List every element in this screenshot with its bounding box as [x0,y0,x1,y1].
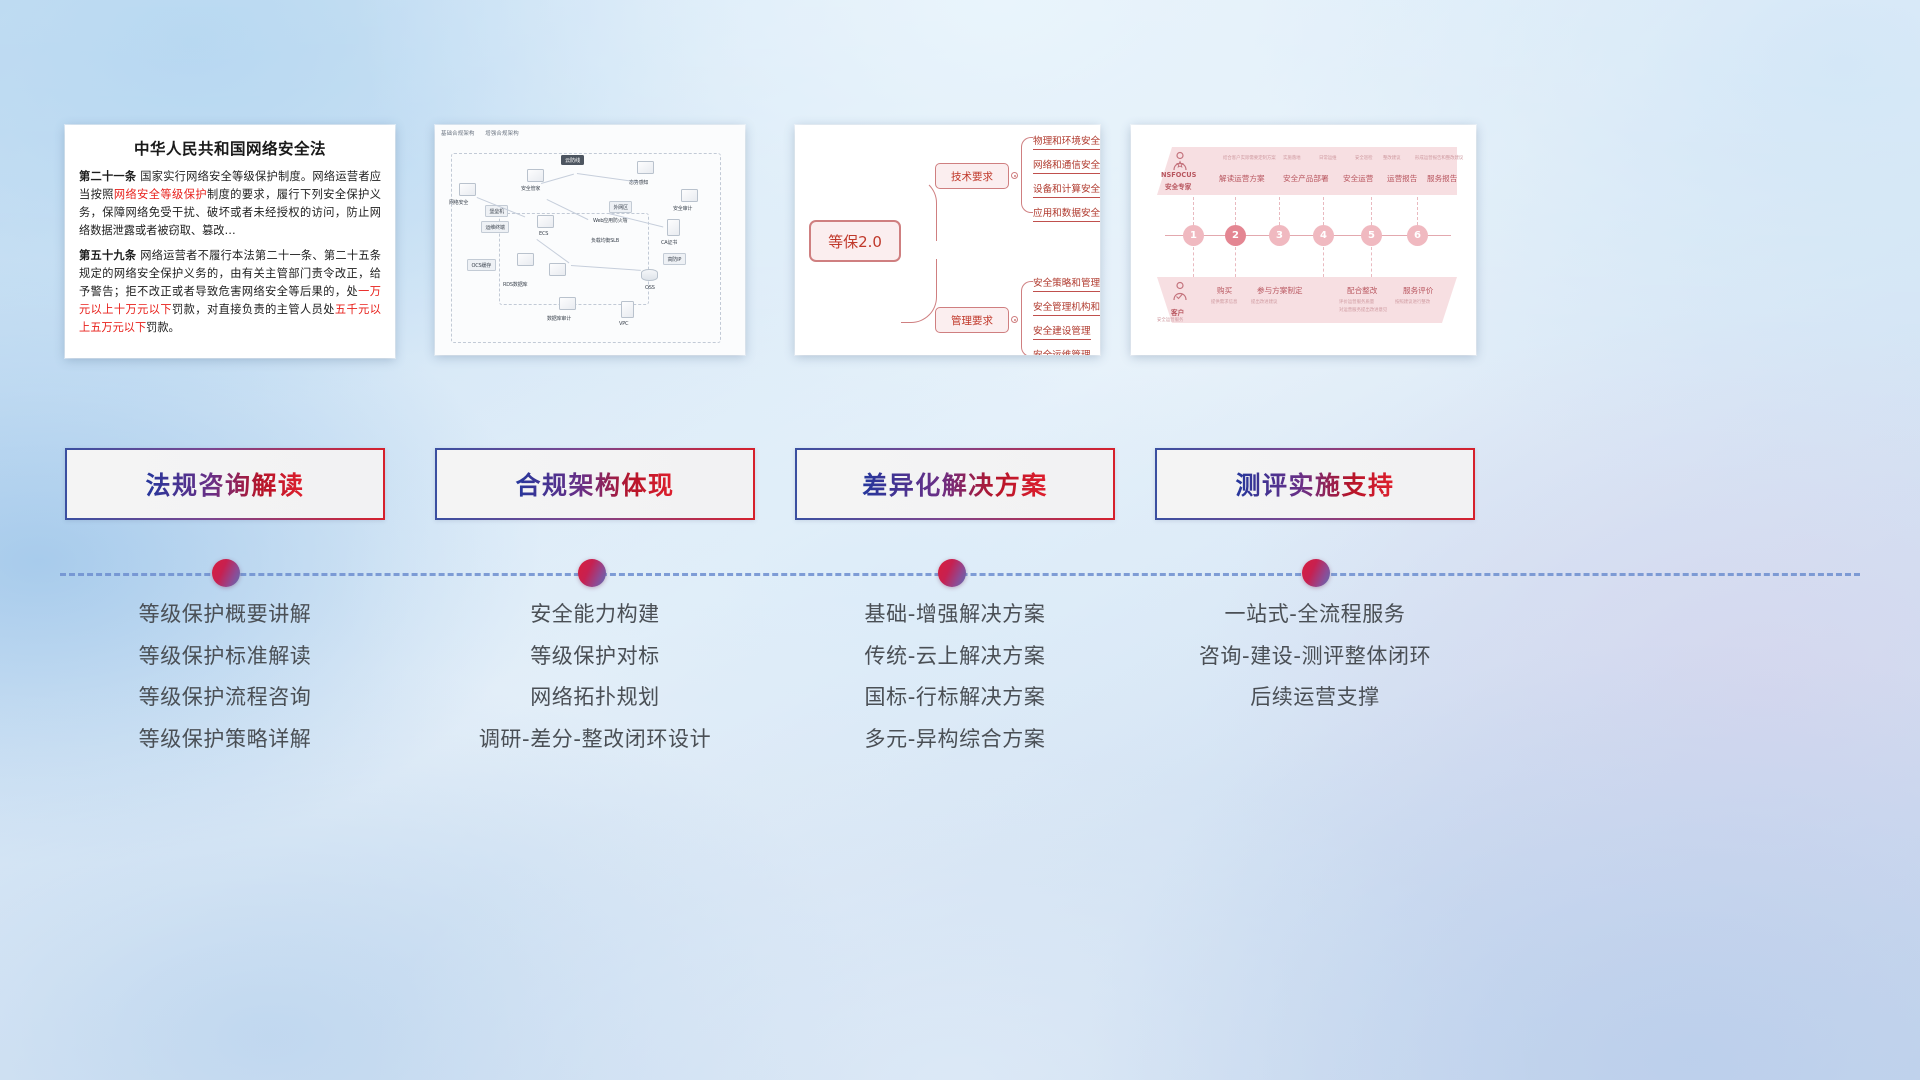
process-dash-3 [1323,197,1324,225]
architecture-label-ca: CA证书 [661,239,677,246]
mindmap-fan-technical [1021,137,1033,213]
process-bottom-sub-2: 提出改进建议 [1251,299,1277,305]
process-band-provider [1157,147,1457,195]
process-top-label-2: 安全运营 [1343,173,1373,184]
process-bottom-label-2: 配合整改 [1347,285,1377,296]
process-dash-2 [1279,197,1280,225]
process-step-5: 5 [1361,225,1382,246]
process-top-label-4: 服务报告 [1427,173,1457,184]
section-header-label-2: 差异化解决方案 [862,466,1048,502]
section-list-compliance-architecture: 安全能力构建 等级保护对标 网络拓扑规划 调研-差分-整改闭环设计 [435,604,755,770]
process-bottom-sub-4: 按照建议进行整改 [1395,299,1430,305]
process-bottom-sub-3: 评价运营服务质量 [1339,299,1374,305]
process-bottom-sub-5: 对运营服务提出改进意见 [1339,307,1387,313]
process-dash-1 [1235,197,1236,225]
section-header-evaluation-support[interactable]: 测评实施支持 [1155,448,1475,520]
section-list-regulation-consulting: 等级保护概要讲解 等级保护标准解读 等级保护流程咨询 等级保护策略详解 [65,604,385,770]
section-header-regulation-consulting[interactable]: 法规咨询解读 [65,448,385,520]
section-lists-row: 等级保护概要讲解 等级保护标准解读 等级保护流程咨询 等级保护策略详解 安全能力… [0,604,1920,804]
architecture-chip-waiwangqu: 外网区 [609,201,632,213]
section-header-row: 法规咨询解读 合规架构体现 差异化解决方案 测评实施支持 [0,448,1920,520]
architecture-node-oss-icon [641,269,658,281]
section-list-differentiated-solution: 基础-增强解决方案 传统-云上解决方案 国标-行标解决方案 多元-异构综合方案 [795,604,1115,770]
architecture-tab-basic[interactable]: 基础合规架构 [441,131,475,137]
timeline [0,556,1920,592]
architecture-node-taishiganzhi-icon [637,161,654,174]
law-title: 中华人民共和国网络安全法 [79,137,381,159]
process-bottom-sub-0: 安全运营服务 [1157,317,1183,323]
architecture-chip-ocs: OCS缓存 [467,259,496,271]
process-top-sub-2: 日常运维 [1319,155,1337,161]
mindmap-connector-technical [901,177,937,241]
architecture-node-dbaudit-icon [559,297,576,310]
timeline-dot-3[interactable] [938,559,966,587]
list-item: 咨询-建设-测评整体闭环 [1155,646,1475,667]
card-cybersecurity-law[interactable]: 中华人民共和国网络安全法 第二十一条 国家实行网络安全等级保护制度。网络运营者应… [65,125,395,358]
mindmap-leaf-tech-1: 网络和通信安全 [1033,157,1100,174]
architecture-node-vpc-icon [621,301,634,318]
thumbnail-card-row: 中华人民共和国网络安全法 第二十一条 国家实行网络安全等级保护制度。网络运营者应… [0,125,1920,365]
mindmap-leaf-tech-2: 设备和计算安全 [1033,181,1100,198]
process-top-sub-5: 形成运营报告和整改建议 [1415,155,1463,161]
process-bottom-label-0: 购买 [1217,285,1232,296]
section-list-evaluation-support: 一站式-全流程服务 咨询-建设-测评整体闭环 后续运营支撑 [1155,604,1475,729]
mindmap-leaf-mgmt-3: 安全运维管理 [1033,347,1091,355]
list-item: 国标-行标解决方案 [795,687,1115,708]
law-text-59-after: 罚款。 [146,321,180,334]
architecture-tab-enhanced[interactable]: 增强合规架构 [485,131,519,137]
architecture-tabs: 基础合规架构 增强合规架构 [441,129,528,137]
section-header-label-0: 法规咨询解读 [145,466,304,502]
law-paragraph-21: 第二十一条 国家实行网络安全等级保护制度。网络运营者应当按照网络安全等级保护制度… [79,168,381,241]
list-item: 后续运营支撑 [1155,687,1475,708]
process-bottom-label-3: 服务评价 [1403,285,1433,296]
architecture-node-ecs-icon [537,215,554,228]
architecture-node-ca-icon [667,219,680,236]
mindmap-diagram: 等保2.0 技术要求 管理要求 物理和环境安全 网络和通信安全 设备和计算安全 … [795,125,1100,355]
timeline-dot-2[interactable] [578,559,606,587]
law-article-label-21: 第二十一条 [79,170,136,183]
list-item: 基础-增强解决方案 [795,604,1115,625]
process-customer-label: 客户 [1171,307,1184,317]
architecture-label-rds: RDS数据库 [503,281,527,288]
list-item: 等级保护标准解读 [65,646,385,667]
list-item: 一站式-全流程服务 [1155,604,1475,625]
mindmap-connector-management [901,259,937,323]
process-dash-b3 [1371,247,1372,277]
mindmap-leaf-tech-3: 应用和数据安全 [1033,205,1100,222]
list-item: 等级保护概要讲解 [65,604,385,625]
law-paragraph-59: 第五十九条 网络运营者不履行本法第二十一条、第二十五条规定的网络安全保护义务的，… [79,247,381,338]
process-brand-name: NSFOCUS [1161,171,1196,179]
customer-person-icon [1171,281,1189,301]
mindmap-root-node: 等保2.0 [809,220,901,262]
architecture-node-rds-icon [517,253,534,266]
law-text-59-middle: 罚款，对直接负责的主管人员处 [172,303,335,316]
process-bottom-label-1: 参与方案制定 [1257,285,1303,296]
architecture-label-anquanguanjia: 安全管家 [521,185,540,192]
process-dash-4 [1371,197,1372,225]
card-service-process[interactable]: NSFOCUS 安全专家 结合客户实际需要定制方案 实施落地 日常运维 安全巡检… [1131,125,1476,355]
section-header-differentiated-solution[interactable]: 差异化解决方案 [795,448,1115,520]
architecture-label-slb: 负载均衡SLB [591,237,619,244]
list-item: 多元-异构综合方案 [795,729,1115,750]
architecture-chip-yuntangxian: 云防线 [561,155,584,165]
process-top-label-3: 运营报告 [1387,173,1417,184]
list-item: 安全能力构建 [435,604,755,625]
section-header-label-1: 合规架构体现 [515,466,674,502]
architecture-label-anquanshenji: 安全审计 [673,205,692,212]
architecture-chip-baoleiji: 堡垒机 [485,205,508,217]
process-dash-b2 [1323,247,1324,277]
list-item: 等级保护对标 [435,646,755,667]
law-text-block: 中华人民共和国网络安全法 第二十一条 国家实行网络安全等级保护制度。网络运营者应… [65,125,395,337]
architecture-node-wangluoanquan-icon [459,183,476,196]
architecture-chip-yunweizhongduan: 运维终端 [481,221,509,233]
process-step-3: 3 [1269,225,1290,246]
mindmap-leaf-tech-0: 物理和环境安全 [1033,133,1100,150]
process-dash-0 [1193,197,1194,225]
list-item: 等级保护流程咨询 [65,687,385,708]
mindmap-collapse-dot-management[interactable] [1011,316,1018,323]
architecture-label-vpc: VPC [619,321,628,327]
architecture-label-oss: OSS [645,285,655,291]
process-top-label-1: 安全产品部署 [1283,173,1329,184]
law-article-label-59: 第五十九条 [79,249,136,262]
law-highlight-21: 网络安全等级保护 [114,188,207,201]
list-item: 调研-差分-整改闭环设计 [435,729,755,750]
process-dash-b1 [1235,247,1236,277]
card-compliance-architecture[interactable]: 基础合规架构 增强合规架构 云防线 安全管家 态势感知 网络安全 安全审计 堡垒 [435,125,745,355]
architecture-chip-gaofangip: 高防IP [663,253,686,265]
architecture-node-db2-icon [549,263,566,276]
process-dash-5 [1417,197,1418,225]
list-item: 网络拓扑规划 [435,687,755,708]
architecture-label-ecs: ECS [539,231,548,237]
process-top-sub-0: 结合客户实际需要定制方案 [1223,155,1276,161]
process-step-4: 4 [1313,225,1334,246]
mindmap-leaf-mgmt-0: 安全策略和管理制度 [1033,275,1100,292]
list-item: 传统-云上解决方案 [795,646,1115,667]
process-top-sub-3: 安全巡检 [1355,155,1373,161]
process-step-1: 1 [1183,225,1204,246]
mindmap-leaf-mgmt-2: 安全建设管理 [1033,323,1091,340]
card-dengbao-mindmap[interactable]: 等保2.0 技术要求 管理要求 物理和环境安全 网络和通信安全 设备和计算安全 … [795,125,1100,355]
mindmap-fan-management [1021,281,1033,355]
expert-person-icon [1171,151,1189,171]
architecture-label-wangluoanquan: 网络安全 [449,199,468,206]
architecture-node-anquanguanjia-icon [527,169,544,182]
architecture-label-waf: Web应用防火墙 [593,217,627,224]
process-brand-sub: 安全专家 [1165,181,1191,191]
section-header-compliance-architecture[interactable]: 合规架构体现 [435,448,755,520]
list-item: 等级保护策略详解 [65,729,385,750]
mindmap-leaf-mgmt-1: 安全管理机构和人员 [1033,299,1100,316]
timeline-dot-1[interactable] [212,559,240,587]
process-diagram: NSFOCUS 安全专家 结合客户实际需要定制方案 实施落地 日常运维 安全巡检… [1131,125,1476,355]
architecture-node-anquanshenji-icon [681,189,698,202]
architecture-label-dbaudit: 数据库审计 [547,315,571,322]
process-bottom-sub-1: 提供需求信息 [1211,299,1237,305]
section-header-label-3: 测评实施支持 [1235,466,1394,502]
architecture-canvas: 云防线 安全管家 态势感知 网络安全 安全审计 堡垒机 运维终端 外网区 ECS… [441,139,739,349]
process-top-sub-4: 整改建议 [1383,155,1401,161]
process-top-label-0: 解读运营方案 [1219,173,1265,184]
architecture-diagram: 基础合规架构 增强合规架构 云防线 安全管家 态势感知 网络安全 安全审计 堡垒 [435,125,745,355]
mindmap-collapse-dot-technical[interactable] [1011,172,1018,179]
timeline-dot-4[interactable] [1302,559,1330,587]
process-step-2: 2 [1225,225,1246,246]
process-dash-b0 [1193,247,1194,277]
process-top-sub-1: 实施落地 [1283,155,1301,161]
mindmap-branch-management: 管理要求 [935,307,1009,333]
process-step-6: 6 [1407,225,1428,246]
mindmap-branch-technical: 技术要求 [935,163,1009,189]
